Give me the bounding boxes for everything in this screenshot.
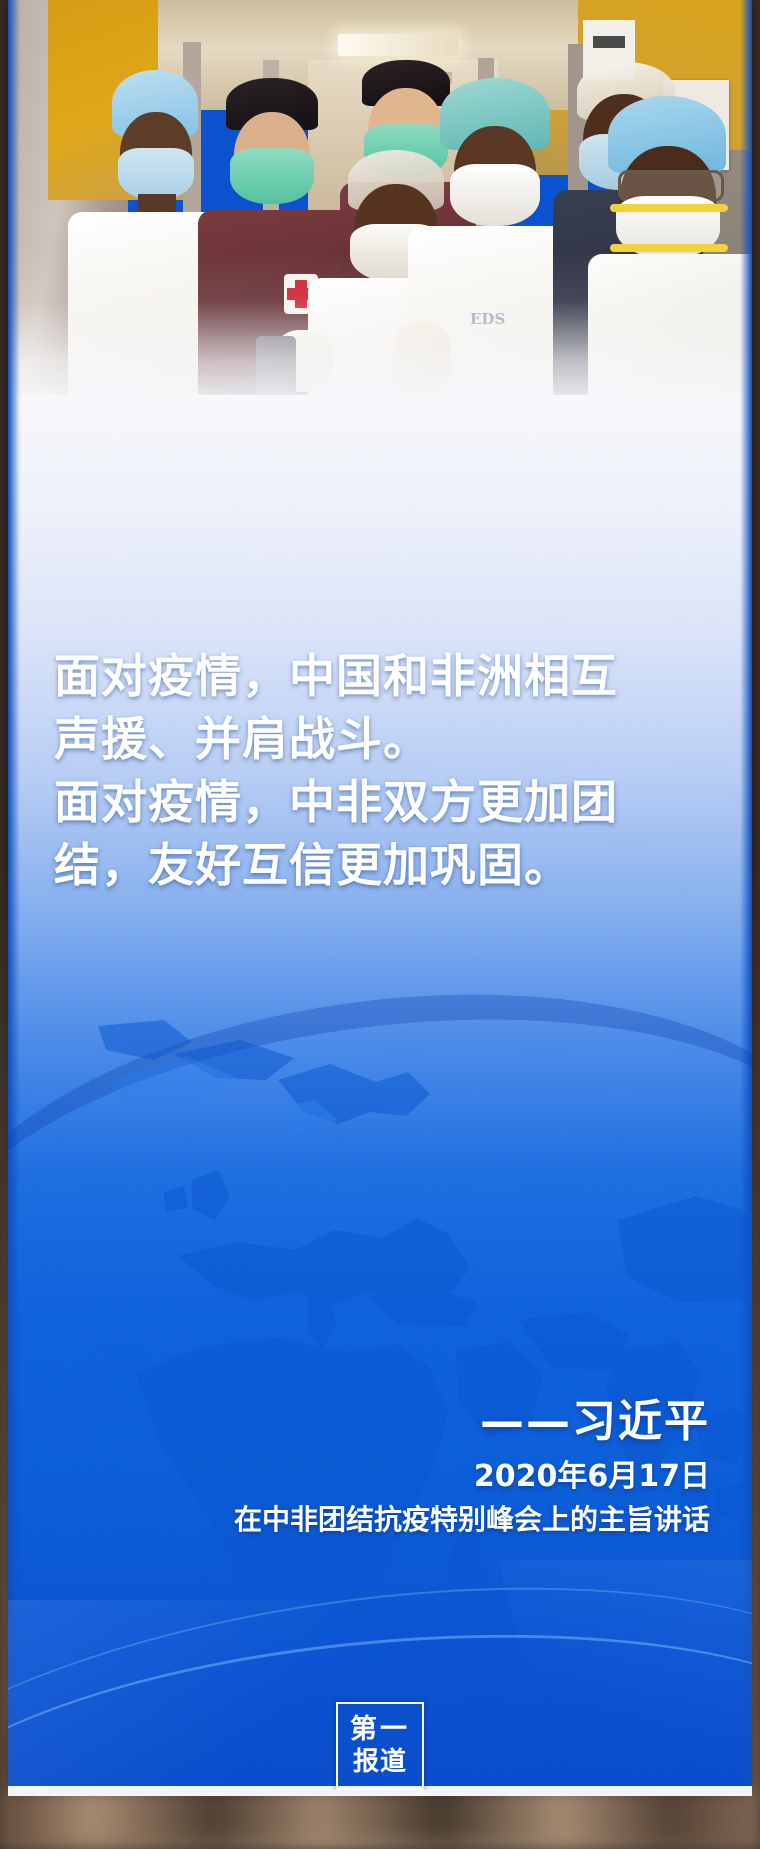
coat-logo-eds: EDS xyxy=(470,310,524,330)
brand-logo-line-2: 报道 xyxy=(353,1746,407,1779)
medical-worker-7 xyxy=(598,96,752,400)
ceiling-light-fixture xyxy=(338,34,458,56)
gloved-hand xyxy=(393,322,451,392)
face-mask xyxy=(118,148,194,200)
ppe-gown xyxy=(588,254,752,400)
n95-respirator xyxy=(450,164,540,226)
poster-root: EDS xyxy=(0,0,760,1849)
quote-line-3: 面对疫情，中非双方更加团 xyxy=(54,771,694,834)
quote-line-2: 声援、并肩战斗。 xyxy=(54,708,694,771)
quote-block: 面对疫情，中国和非洲相互 声援、并肩战斗。 面对疫情，中非双方更加团 结，友好互… xyxy=(54,645,694,897)
brand-logo-line-1: 第一 xyxy=(350,1713,410,1746)
mask-strap xyxy=(610,204,728,212)
mask-strap xyxy=(610,244,728,252)
smartphone xyxy=(256,336,296,398)
face-mask xyxy=(230,148,314,204)
wall-notice-mark xyxy=(593,36,625,48)
speaker-signature: ——习近平 xyxy=(70,1394,710,1450)
speech-occasion: 在中非团结抗疫特别峰会上的主旨讲话 xyxy=(70,1500,710,1540)
speech-date: 2020年6月17日 xyxy=(70,1456,710,1498)
quote-line-4: 结，友好互信更加巩固。 xyxy=(54,834,694,897)
quote-line-1: 面对疫情，中国和非洲相互 xyxy=(54,645,694,708)
poster-card: EDS xyxy=(8,0,752,1790)
hero-photo: EDS xyxy=(8,0,752,400)
attribution-block: ——习近平 2020年6月17日 在中非团结抗疫特别峰会上的主旨讲话 xyxy=(70,1394,710,1540)
brand-logo[interactable]: 第一 报道 xyxy=(336,1702,424,1790)
